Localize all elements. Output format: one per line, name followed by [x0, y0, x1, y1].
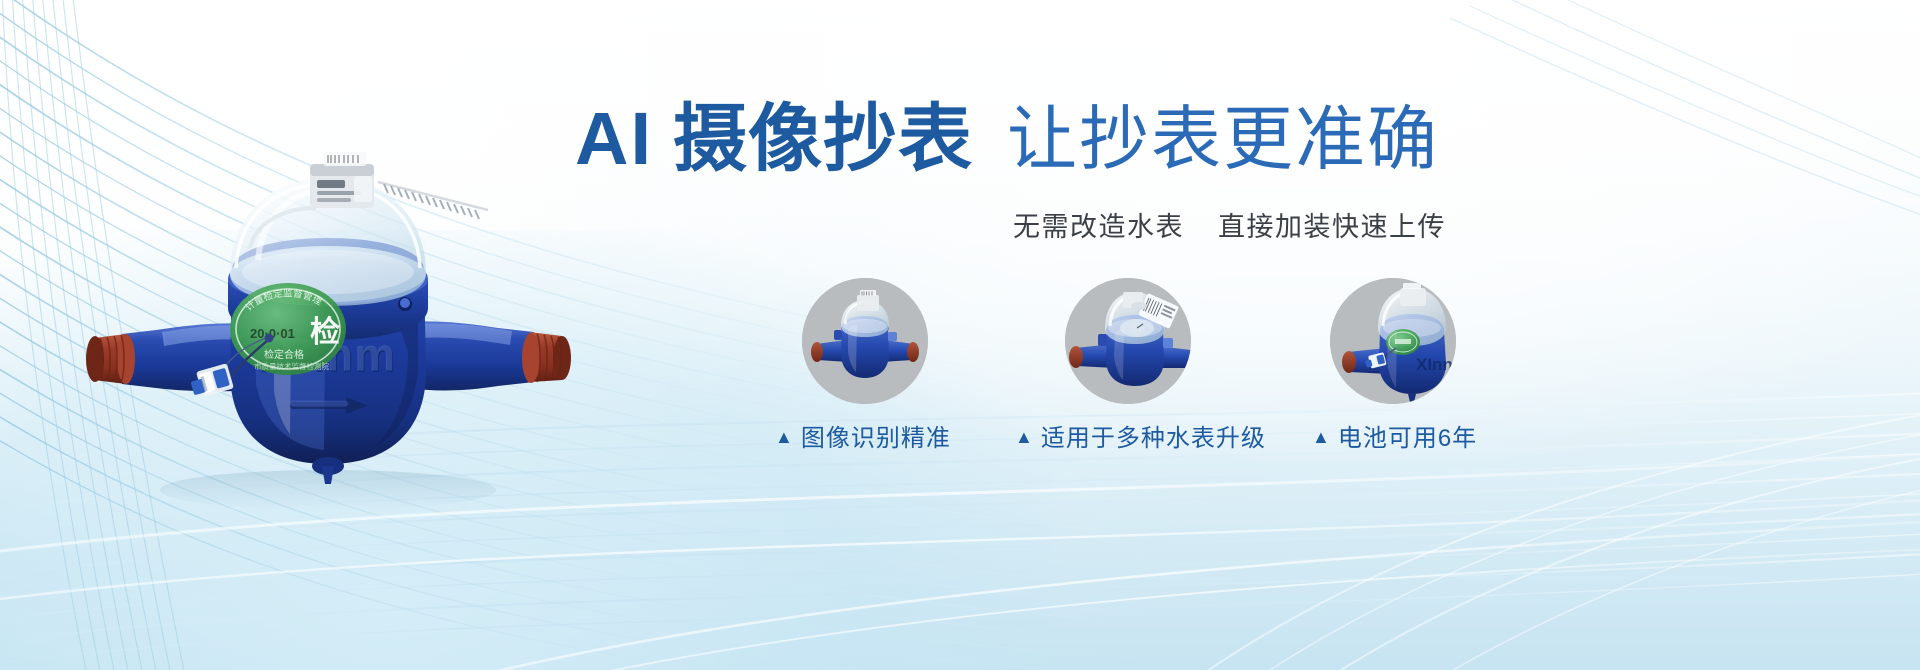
headline-secondary: 让抄表更准确 [1007, 100, 1439, 178]
triangle-bullet-icon: ▲ [1312, 428, 1331, 446]
hero-product-image: NSF NSF 20mm 20mm [78, 72, 578, 512]
svg-text:20mm: 20mm [259, 329, 396, 381]
triangle-bullet-icon: ▲ [775, 428, 794, 446]
promo-banner: NSF NSF 20mm 20mm [0, 0, 1920, 670]
headline-ai: AI [575, 97, 653, 180]
svg-text:NSF: NSF [347, 279, 404, 309]
thumb-meter-label-view[interactable] [1065, 278, 1191, 404]
subheadline-part1: 无需改造水表 [1013, 212, 1184, 242]
svg-text:检定合格: 检定合格 [264, 348, 304, 361]
feature-item-battery-life: ▲ 电池可用6年 [1312, 418, 1477, 453]
svg-text:市质量技术监督检测院: 市质量技术监督检测院 [254, 361, 329, 371]
feature-label: 电池可用6年 [1338, 418, 1477, 453]
svg-text:20·0·01: 20·0·01 [250, 326, 295, 341]
feature-label-row: ▲ 图像识别精准 ▲ 适用于多种水表升级 ▲ 电池可用6年 [775, 418, 1895, 458]
banner-subheadline: 无需改造水表直接加装快速上传 [1013, 205, 1446, 244]
svg-text:计量检定监督管理: 计量检定监督管理 [243, 287, 324, 313]
subheadline-part2: 直接加装快速上传 [1218, 212, 1446, 242]
feature-item-image-recognition: ▲ 图像识别精准 [775, 418, 951, 453]
svg-text:20mm: 20mm [260, 330, 397, 382]
product-thumbnail-row: XInn [790, 278, 1870, 428]
headline-main: 摄像抄表 [673, 97, 973, 180]
feature-label: 适用于多种水表升级 [1041, 418, 1266, 453]
thumb-meter-seal-view[interactable]: XInn [1330, 278, 1456, 404]
banner-headline: AI摄像抄表让抄表更准确 [575, 102, 1875, 176]
thumb-meter-top-view[interactable] [802, 278, 928, 404]
svg-text:检: 检 [310, 315, 340, 349]
feature-item-meter-compatibility: ▲ 适用于多种水表升级 [1015, 418, 1266, 453]
triangle-bullet-icon: ▲ [1015, 428, 1034, 446]
background-glow-top-left [0, 0, 880, 580]
svg-text:XInn: XInn [1416, 355, 1453, 374]
feature-label: 图像识别精准 [801, 418, 951, 453]
svg-text:NSF: NSF [348, 280, 405, 310]
